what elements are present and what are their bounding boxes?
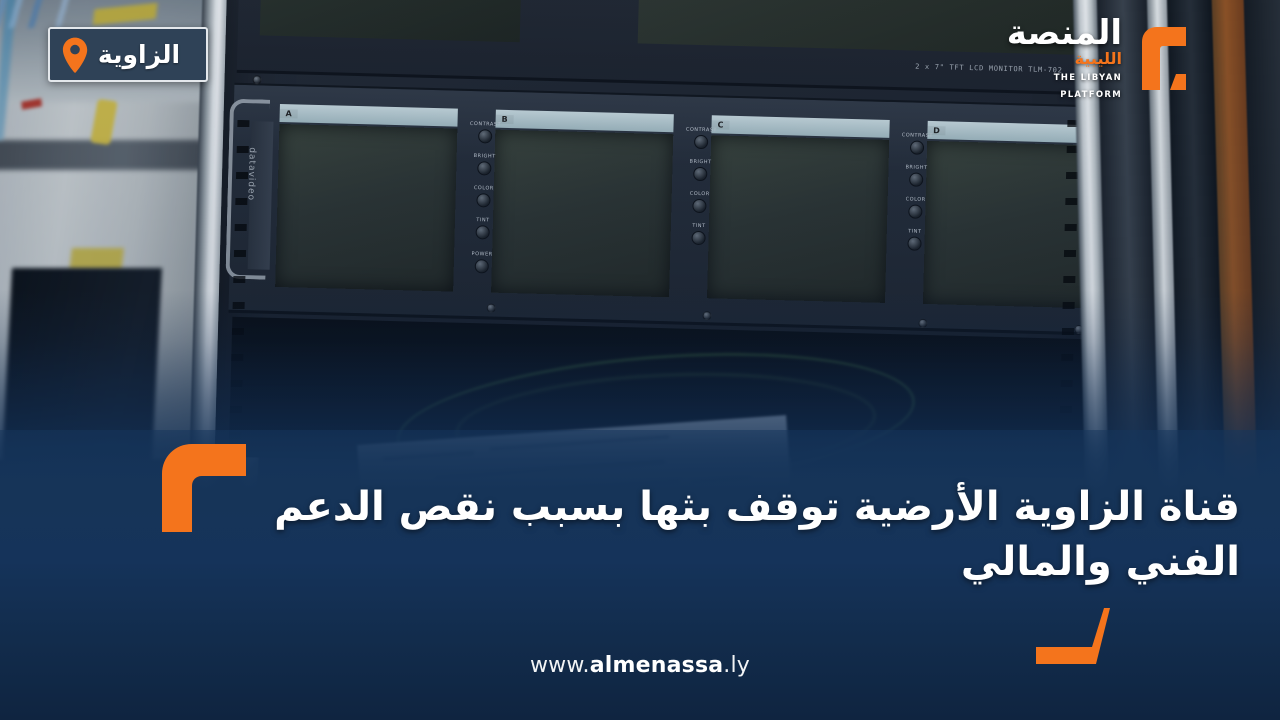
url-prefix: www. bbox=[530, 653, 590, 678]
orange-bracket-mark-icon bbox=[1130, 20, 1192, 96]
news-card-root: POWER POWER 2 x 7" TFT LCD MONITOR TLM-7… bbox=[0, 0, 1280, 720]
logo-english-line1: THE LIBYAN bbox=[1054, 73, 1122, 83]
map-pin-icon bbox=[60, 36, 90, 74]
logo-text-block: المنصة الليبية THE LIBYAN PLATFORM bbox=[1007, 14, 1122, 102]
logo-arabic-primary: المنصة bbox=[1007, 16, 1122, 50]
headline-text: قناة الزاوية الأرضية توقف بثها بسبب نقص … bbox=[200, 480, 1240, 590]
logo-english-line2: PLATFORM bbox=[1060, 90, 1122, 100]
url-name: almenassa bbox=[590, 653, 724, 678]
logo-arabic-secondary: الليبية bbox=[1007, 51, 1122, 67]
url-tld: .ly bbox=[723, 653, 750, 678]
channel-logo[interactable]: المنصة الليبية THE LIBYAN PLATFORM bbox=[1007, 14, 1192, 102]
website-url[interactable]: www.almenassa.ly bbox=[0, 653, 1280, 678]
logo-english-block: THE LIBYAN PLATFORM bbox=[1054, 73, 1122, 100]
location-badge[interactable]: الزاوية bbox=[48, 27, 208, 82]
location-label: الزاوية bbox=[90, 42, 192, 67]
